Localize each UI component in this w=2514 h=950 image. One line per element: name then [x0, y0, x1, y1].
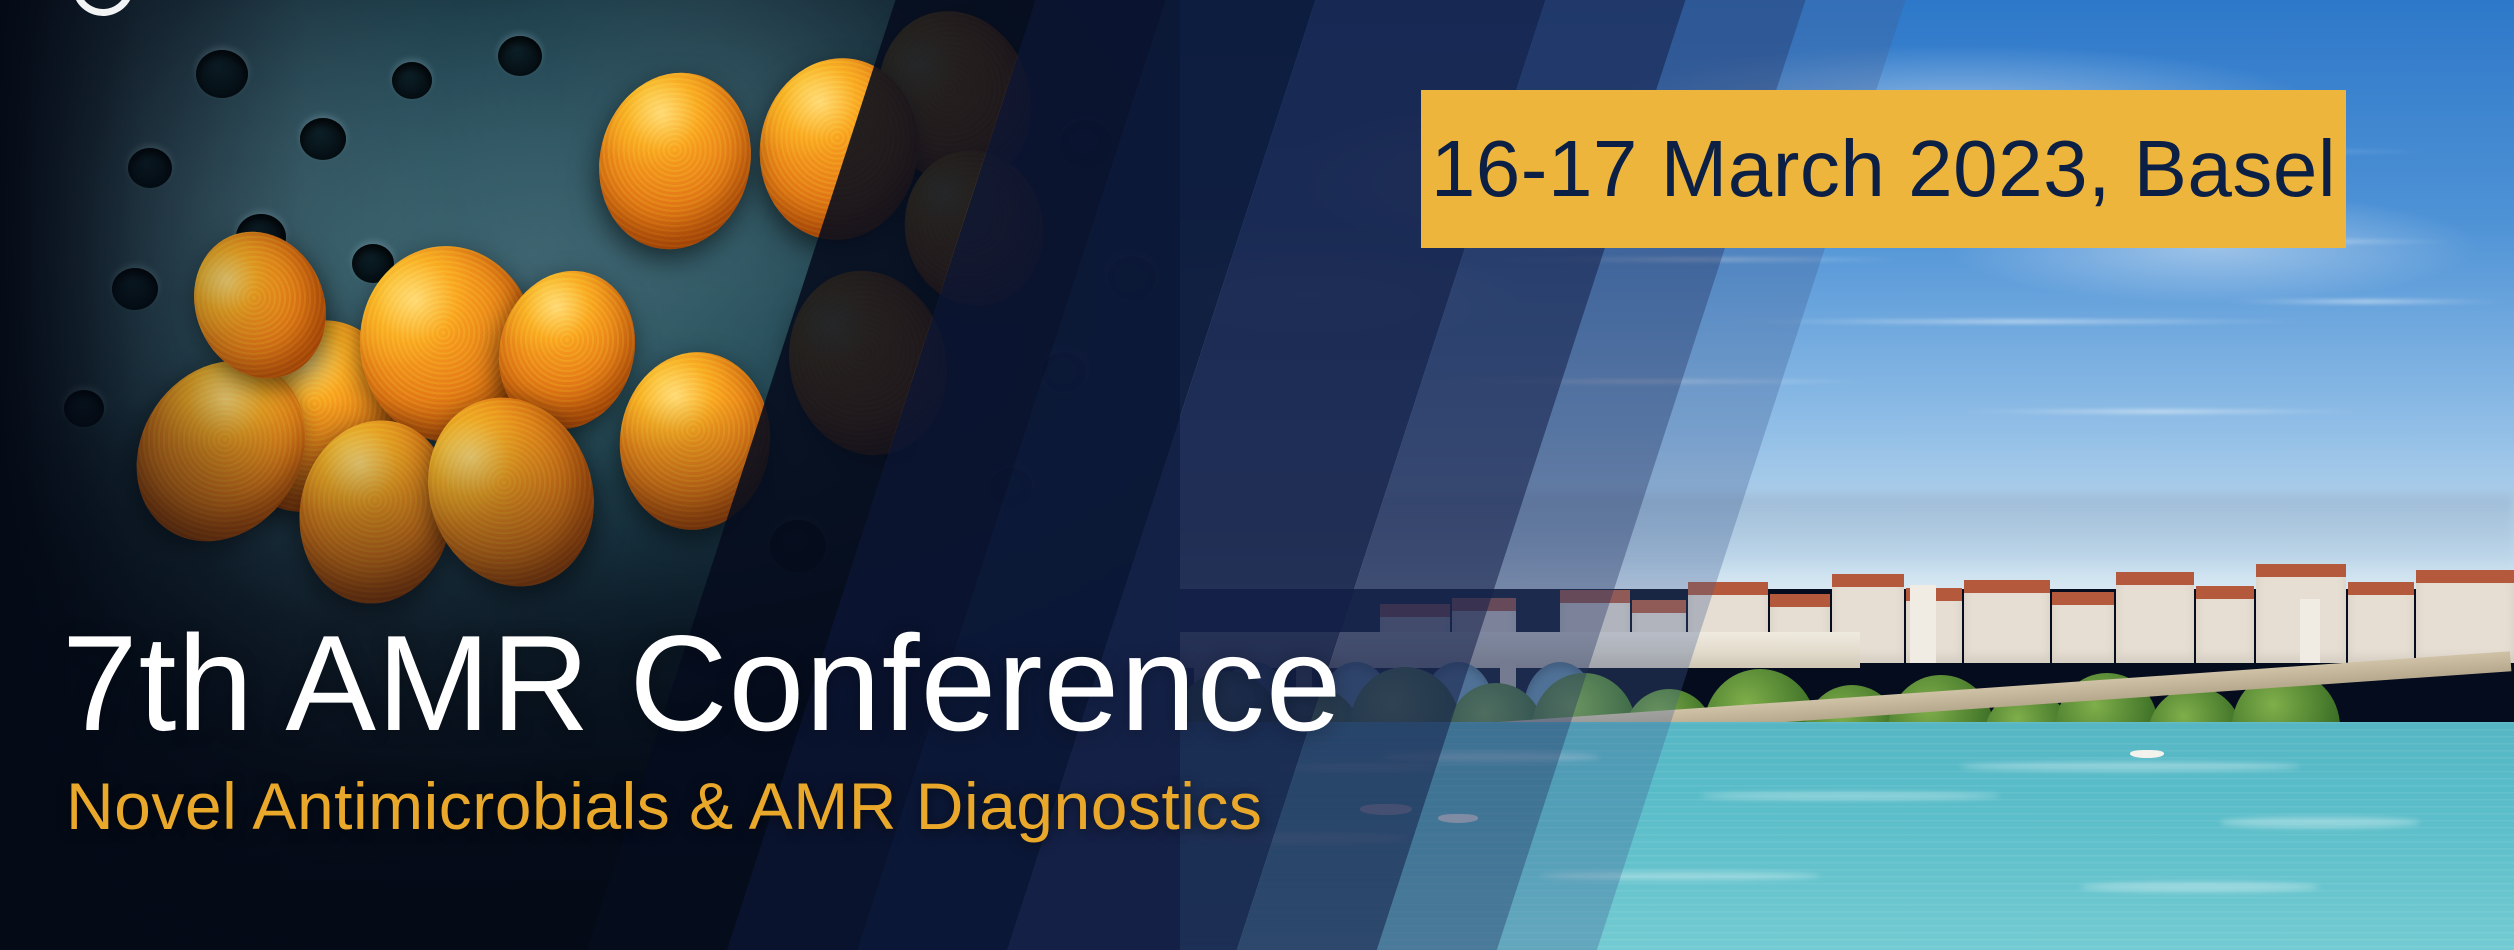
date-location-badge: 16-17 March 2023, Basel [1421, 90, 2346, 248]
banner-title: 7th AMR Conference [62, 615, 1342, 751]
date-location-text: 16-17 March 2023, Basel [1431, 123, 2336, 215]
banner-subtitle: Novel Antimicrobials & AMR Diagnostics [66, 773, 1262, 839]
conference-banner: CONFERENCE 16-17 March 2023, Basel 7th A… [0, 0, 2514, 950]
banner-content: CONFERENCE 16-17 March 2023, Basel 7th A… [0, 0, 2514, 950]
conference-logo[interactable]: CONFERENCE [60, 0, 580, 18]
logo-wordmark: CONFERENCE [250, 0, 590, 6]
logo-mark-icon [61, 0, 145, 27]
